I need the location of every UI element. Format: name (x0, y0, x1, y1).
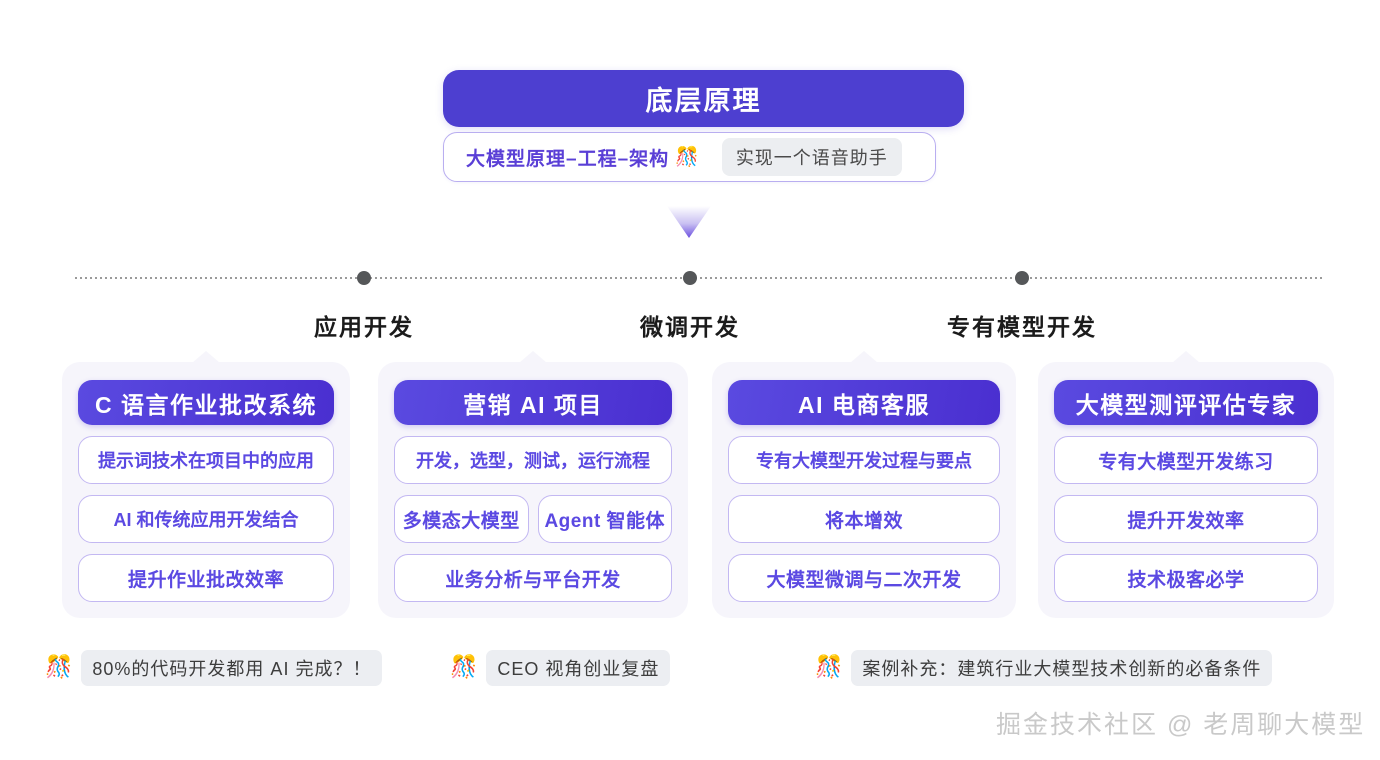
chip[interactable]: 提升作业批改效率 (78, 554, 334, 602)
confetti-icon: 🎊 (675, 148, 700, 167)
diagram-canvas: 底层原理 大模型原理–工程–架构 🎊 实现一个语音助手 应用开发微调开发专有模型… (0, 0, 1380, 760)
chip-row: 业务分析与平台开发 (394, 554, 672, 602)
chip-row: AI 和传统应用开发结合 (78, 495, 334, 543)
footnote-1: 🎊80%的代码开发都用 AI 完成？！ (45, 650, 382, 686)
chip-row: 专有大模型开发过程与要点 (728, 436, 1000, 484)
chip[interactable]: 技术极客必学 (1054, 554, 1318, 602)
chip[interactable]: AI 和传统应用开发结合 (78, 495, 334, 543)
timeline-label-2: 微调开发 (640, 308, 740, 342)
timeline-label-1: 应用开发 (314, 308, 414, 342)
card-title-3[interactable]: AI 电商客服 (728, 380, 1000, 425)
subbar-primary-label: 大模型原理–工程–架构 (466, 144, 669, 171)
card-2: 营销 AI 项目开发，选型，测试，运行流程多模态大模型Agent 智能体业务分析… (378, 362, 688, 618)
chip-row: 提升开发效率 (1054, 495, 1318, 543)
header-subbar: 大模型原理–工程–架构 🎊 实现一个语音助手 (443, 132, 936, 182)
confetti-icon: 🎊 (45, 657, 72, 679)
chip[interactable]: 提示词技术在项目中的应用 (78, 436, 334, 484)
timeline-dot-3 (1015, 271, 1029, 285)
confetti-icon: 🎊 (450, 657, 477, 679)
card-3: AI 电商客服专有大模型开发过程与要点将本增效大模型微调与二次开发 (712, 362, 1016, 618)
chip-row: 多模态大模型Agent 智能体 (394, 495, 672, 543)
card-title-4[interactable]: 大模型测评评估专家 (1054, 380, 1318, 425)
chip-row: 大模型微调与二次开发 (728, 554, 1000, 602)
chip[interactable]: 大模型微调与二次开发 (728, 554, 1000, 602)
chip[interactable]: 业务分析与平台开发 (394, 554, 672, 602)
confetti-icon: 🎊 (815, 657, 842, 679)
chip[interactable]: 多模态大模型 (394, 495, 529, 543)
card-title-1[interactable]: C 语言作业批改系统 (78, 380, 334, 425)
page-title: 底层原理 (443, 70, 964, 127)
card-1: C 语言作业批改系统提示词技术在项目中的应用AI 和传统应用开发结合提升作业批改… (62, 362, 350, 618)
chip-row: 提示词技术在项目中的应用 (78, 436, 334, 484)
footnote-text: 案例补充：建筑行业大模型技术创新的必备条件 (851, 650, 1272, 686)
footnote-text: 80%的代码开发都用 AI 完成？！ (81, 650, 382, 686)
card-title-2[interactable]: 营销 AI 项目 (394, 380, 672, 425)
card-notch-icon (192, 351, 220, 363)
down-arrow-icon (665, 205, 713, 239)
chip-row: 专有大模型开发练习 (1054, 436, 1318, 484)
timeline-axis (75, 277, 1325, 279)
chip[interactable]: 提升开发效率 (1054, 495, 1318, 543)
timeline-dot-1 (357, 271, 371, 285)
chip[interactable]: 开发，选型，测试，运行流程 (394, 436, 672, 484)
chip[interactable]: 专有大模型开发过程与要点 (728, 436, 1000, 484)
chip-row: 提升作业批改效率 (78, 554, 334, 602)
page-title-text: 底层原理 (646, 79, 762, 118)
subbar-primary-pill[interactable]: 大模型原理–工程–架构 🎊 (458, 140, 708, 175)
chip[interactable]: Agent 智能体 (538, 495, 673, 543)
footnote-3: 🎊案例补充：建筑行业大模型技术创新的必备条件 (815, 650, 1272, 686)
card-notch-icon (519, 351, 547, 363)
chip-row: 技术极客必学 (1054, 554, 1318, 602)
footnote-text: CEO 视角创业复盘 (486, 650, 670, 686)
chip-row: 开发，选型，测试，运行流程 (394, 436, 672, 484)
watermark: 掘金技术社区 @ 老周聊大模型 (996, 705, 1365, 741)
footnote-2: 🎊CEO 视角创业复盘 (450, 650, 670, 686)
card-notch-icon (1172, 351, 1200, 363)
subbar-secondary-pill[interactable]: 实现一个语音助手 (722, 138, 902, 176)
chip[interactable]: 专有大模型开发练习 (1054, 436, 1318, 484)
chip-row: 将本增效 (728, 495, 1000, 543)
card-4: 大模型测评评估专家专有大模型开发练习提升开发效率技术极客必学 (1038, 362, 1334, 618)
timeline-dot-2 (683, 271, 697, 285)
chip[interactable]: 将本增效 (728, 495, 1000, 543)
timeline-label-3: 专有模型开发 (947, 308, 1097, 342)
card-notch-icon (850, 351, 878, 363)
